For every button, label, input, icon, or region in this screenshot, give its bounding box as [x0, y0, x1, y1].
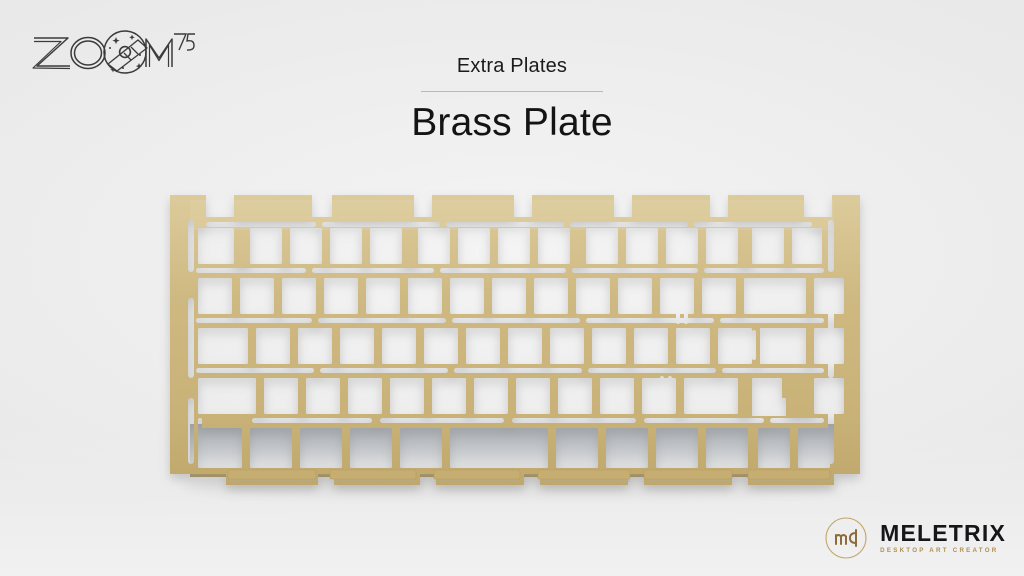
plate-bottom-tabs: [228, 470, 830, 482]
meletrix-company-name: MELETRIX: [880, 522, 1006, 545]
plate-cutout-depth: [190, 424, 834, 476]
title-block: Extra Plates Brass Plate: [0, 55, 1024, 145]
plate-thickness: [190, 470, 834, 477]
plate-body: [170, 195, 860, 485]
plate-contact-shadow: [182, 468, 842, 500]
plate-highlight: [190, 200, 834, 230]
title-divider: [421, 91, 603, 92]
meletrix-logo: MELETRIX DESKTOP ART CREATOR: [823, 514, 1006, 562]
meletrix-tagline: DESKTOP ART CREATOR: [880, 548, 1006, 554]
meletrix-wordmark: MELETRIX DESKTOP ART CREATOR: [880, 522, 1006, 555]
page-eyebrow: Extra Plates: [0, 55, 1024, 78]
page-title: Brass Plate: [0, 101, 1024, 145]
meletrix-monogram-icon: [823, 515, 869, 561]
